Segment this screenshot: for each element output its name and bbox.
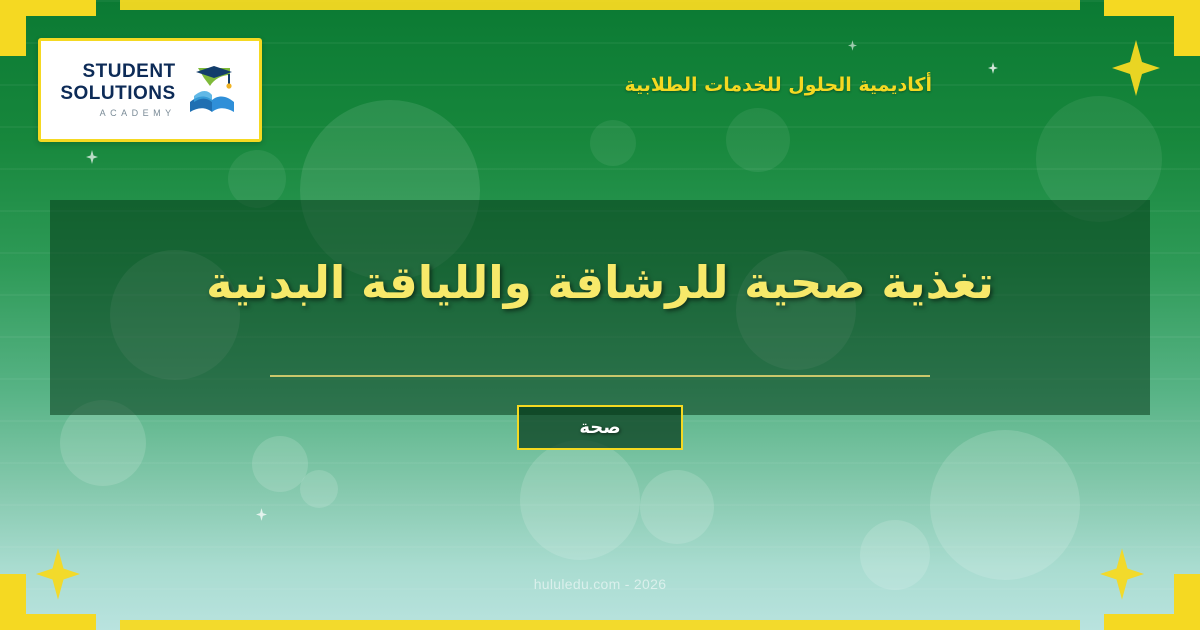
four-point-star-icon bbox=[36, 548, 80, 600]
bubble-decor bbox=[640, 470, 714, 544]
edge-accent-top bbox=[120, 0, 1080, 10]
poster-canvas: STUDENT SOLUTIONS ACADEMY أكاديمية الحلو… bbox=[0, 0, 1200, 630]
footer-credit: hululedu.com - 2026 bbox=[0, 576, 1200, 592]
corner-accent-top-right bbox=[1104, 0, 1200, 16]
corner-accent-bottom-left bbox=[0, 614, 96, 630]
corner-accent-top-left bbox=[0, 0, 96, 16]
bubble-decor bbox=[520, 440, 640, 560]
logo-line-1: STUDENT bbox=[82, 62, 175, 81]
academy-name: أكاديمية الحلول للخدمات الطلابية bbox=[625, 74, 932, 96]
four-point-star-icon bbox=[256, 508, 267, 521]
page-title: تغذية صحية للرشاقة واللياقة البدنية bbox=[50, 256, 1150, 309]
four-point-star-icon bbox=[1112, 40, 1160, 96]
bubble-decor bbox=[300, 470, 338, 508]
four-point-star-icon bbox=[848, 40, 857, 51]
category-badge: صحة bbox=[517, 405, 683, 450]
brand-logo: STUDENT SOLUTIONS ACADEMY bbox=[38, 38, 262, 142]
corner-accent-bottom-right bbox=[1104, 614, 1200, 630]
hero-panel: تغذية صحية للرشاقة واللياقة البدنية bbox=[50, 200, 1150, 415]
bubble-decor bbox=[590, 120, 636, 166]
four-point-star-icon bbox=[988, 62, 998, 74]
four-point-star-icon bbox=[1100, 548, 1144, 600]
graduation-cap-book-icon bbox=[184, 62, 240, 118]
title-divider bbox=[270, 375, 930, 377]
edge-accent-bottom bbox=[120, 620, 1080, 630]
bubble-decor bbox=[930, 430, 1080, 580]
bubble-decor bbox=[726, 108, 790, 172]
logo-line-3: ACADEMY bbox=[100, 109, 176, 118]
four-point-star-icon bbox=[86, 150, 98, 164]
logo-line-2: SOLUTIONS bbox=[60, 84, 175, 103]
